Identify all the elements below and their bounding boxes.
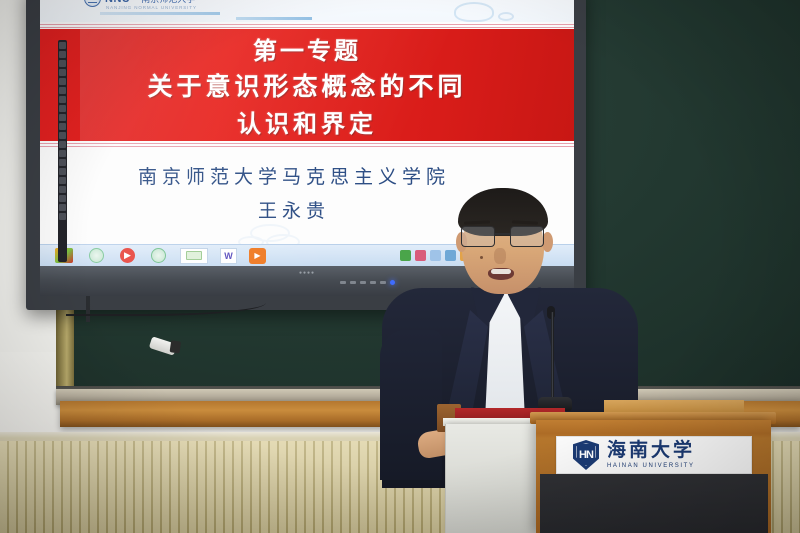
- slide-header-band: NNU · 南京师范大学 NANJING NORMAL UNIVERSITY: [40, 0, 574, 22]
- power-led-indicator: [390, 280, 395, 285]
- nnu-abbreviation: NNU: [105, 0, 130, 5]
- title-line-2: 关于意识形态概念的不同: [147, 67, 466, 103]
- 360-browser-icon[interactable]: [151, 248, 166, 263]
- divider-line-top-2: [40, 27, 574, 28]
- title-line-3: 认识和界定: [237, 104, 377, 139]
- microphone-gooseneck: [551, 312, 554, 400]
- podium-nameplate: HN 海南大学 HAINAN UNIVERSITY: [556, 436, 752, 474]
- cheek-mark: [480, 256, 483, 259]
- video-app-icon[interactable]: ▶: [249, 248, 266, 264]
- hainan-university-emblem-icon: HN: [573, 440, 599, 470]
- lens-right: [510, 226, 544, 247]
- wps-writer-icon[interactable]: W: [220, 248, 237, 264]
- header-swoosh-1: [100, 12, 220, 15]
- header-cloud-icon: [454, 2, 494, 22]
- divider-line-bottom-1: [40, 143, 574, 144]
- nnu-seal-icon: [84, 0, 101, 7]
- glasses-bridge: [495, 233, 510, 235]
- whiteboard-brand-logo: ●●●●: [299, 270, 315, 276]
- lecture-hall-photo: M NNU · 南京师范大学 NANJING NORMAL UNIVERSITY: [0, 0, 800, 533]
- divider-line-bottom-2: [40, 146, 574, 147]
- eyeglasses: [460, 226, 546, 248]
- ie-browser-icon[interactable]: [89, 248, 104, 263]
- whiteboard-control-buttons[interactable]: [340, 280, 395, 285]
- nose: [494, 248, 506, 264]
- divider-line-top-1: [40, 24, 574, 25]
- left-arm: [380, 330, 442, 480]
- title-line-1: 第一专题: [253, 31, 361, 66]
- media-player-icon[interactable]: ▶: [120, 248, 135, 263]
- header-cloud-small-icon: [498, 12, 514, 21]
- university-name-en: HAINAN UNIVERSITY: [607, 463, 695, 469]
- slide-title-banner: 第一专题 关于意识形态概念的不同 认识和界定: [40, 29, 574, 141]
- window-thumbnail-icon[interactable]: [180, 248, 208, 264]
- nnu-separator: ·: [134, 0, 137, 4]
- lens-left: [461, 226, 495, 247]
- mouth: [488, 268, 514, 280]
- header-swoosh-2: [236, 17, 312, 20]
- university-name-cn: 海南大学: [607, 441, 695, 461]
- whiteboard-side-button-strip[interactable]: [58, 40, 67, 262]
- podium-nameplate-text: 海南大学 HAINAN UNIVERSITY: [607, 441, 695, 469]
- nnu-name-en: NANJING NORMAL UNIVERSITY: [106, 5, 197, 10]
- podium-lower-body: [540, 474, 768, 533]
